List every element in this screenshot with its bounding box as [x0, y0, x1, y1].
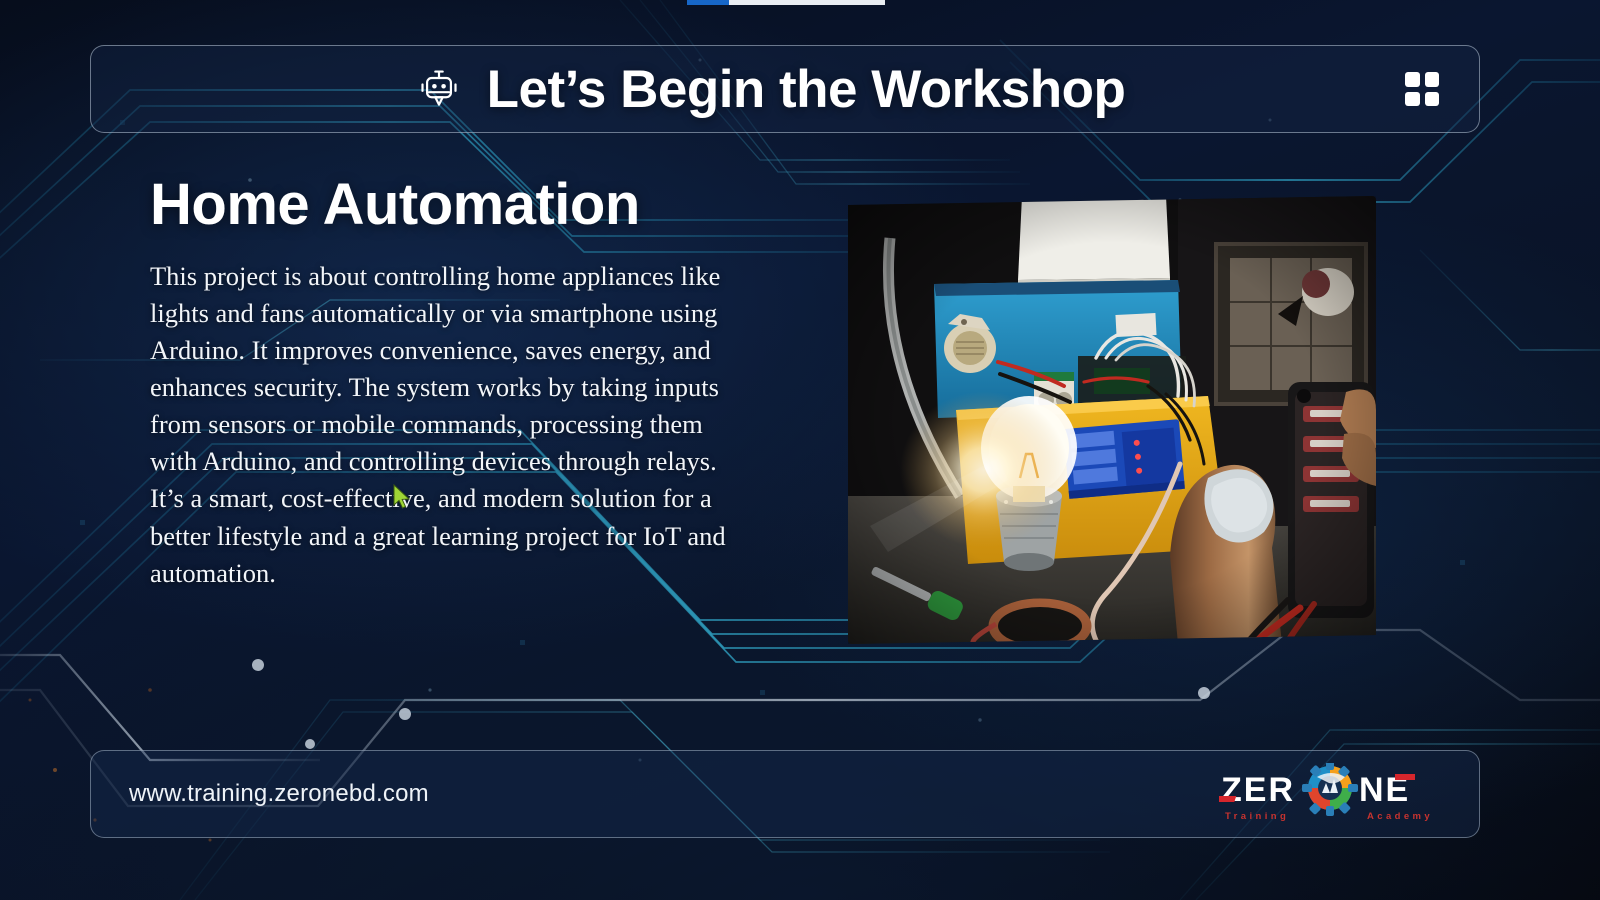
- logo-gear-icon: [1302, 763, 1358, 816]
- slide-header-bar: Let’s Begin the Workshop: [90, 45, 1480, 133]
- logo-tagline-left: Training: [1225, 811, 1289, 822]
- zerone-logo-graphic: ZER: [1219, 763, 1441, 825]
- logo-tagline-right: Academy: [1367, 811, 1433, 822]
- body-paragraph: This project is about controlling home a…: [150, 258, 730, 592]
- photo-illustration: [848, 196, 1376, 644]
- website-url[interactable]: www.training.zeronebd.com: [129, 780, 429, 808]
- presentation-slide: Let’s Begin the Workshop Home Automation…: [0, 0, 1600, 900]
- slide-progress-fill: [687, 0, 729, 5]
- slide-progress-bar[interactable]: [687, 0, 885, 5]
- section-heading: Home Automation: [150, 175, 730, 236]
- robot-icon: [417, 67, 461, 111]
- grid-cell: [1425, 92, 1440, 107]
- grid-cell: [1405, 72, 1420, 87]
- header-title-group: Let’s Begin the Workshop: [417, 59, 1126, 120]
- zerone-logo: ZER: [1219, 763, 1441, 825]
- slide-footer-bar: www.training.zeronebd.com ZER: [90, 750, 1480, 838]
- home-automation-project-photo: [848, 196, 1376, 644]
- logo-word-left: ZER: [1221, 771, 1295, 809]
- grid-cell: [1425, 72, 1440, 87]
- content-column: Home Automation This project is about co…: [150, 175, 730, 592]
- page-title: Let’s Begin the Workshop: [487, 59, 1126, 120]
- grid-cell: [1405, 92, 1420, 107]
- grid-icon[interactable]: [1405, 72, 1439, 106]
